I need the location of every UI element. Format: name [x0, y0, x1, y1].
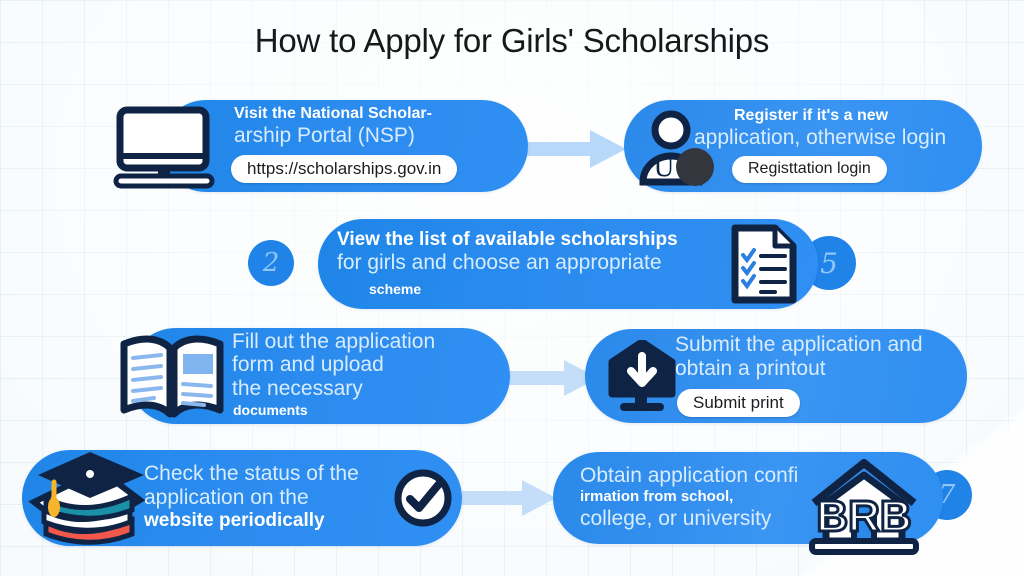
step6-line-2: application on the	[144, 486, 359, 510]
graduation-books-icon	[28, 450, 152, 551]
download-monitor-icon	[602, 340, 682, 421]
step6-line-3: website periodically	[144, 510, 359, 531]
step5-line-1: Submit the application and	[675, 333, 923, 357]
badge-2: 2	[248, 240, 294, 286]
step1-line-2: arship Portal (NSP)	[234, 124, 457, 148]
step4-line-2: form and upload	[232, 353, 435, 377]
step5-submit-tag[interactable]: Submit print	[677, 389, 800, 417]
step5-line-2: obtain a printout	[675, 357, 923, 381]
arrow-step5-to-step6	[462, 478, 558, 523]
step2-login-tag[interactable]: Registtation login	[732, 156, 887, 183]
desktop-monitor-icon	[108, 106, 220, 195]
step1-line-1: Visit the National Scholar-	[234, 105, 457, 123]
svg-text:U: U	[653, 153, 675, 183]
page-title: How to Apply for Girls' Scholarships	[0, 22, 1024, 60]
step7-line-1: Obtain application confi	[580, 464, 798, 488]
infographic-canvas: How to Apply for Girls' Scholarships Vis…	[0, 0, 1024, 576]
avatar-shadow-dot	[676, 148, 714, 186]
checklist-document-icon	[729, 224, 801, 311]
open-book-icon	[116, 332, 228, 427]
step2-line-2: application, otherwise login	[694, 126, 946, 150]
step4-line-3: the necessary	[232, 377, 435, 401]
step4-line-4: documents	[233, 403, 435, 419]
step7-line-2: irmation from school,	[580, 489, 798, 506]
step4-line-1: Fill out the application	[232, 330, 435, 354]
arrow-step1-to-step2	[522, 128, 628, 175]
step3-line-2: for girls and choose an appropriate	[337, 251, 678, 275]
school-icon-letters: BRB	[816, 492, 911, 541]
step6-line-1: Check the status of the	[144, 462, 359, 486]
step1-url-tag[interactable]: https://scholarships.gov.in	[231, 155, 457, 183]
step7-line-3: college, or university	[580, 507, 798, 531]
step3-line-1: View the list of available scholarships	[337, 229, 678, 250]
step3-line-3: scheme	[369, 282, 678, 298]
school-building-icon: BRB	[806, 455, 922, 560]
step2-line-1: Register if it's a new	[734, 107, 946, 125]
check-circle-icon	[394, 469, 452, 532]
